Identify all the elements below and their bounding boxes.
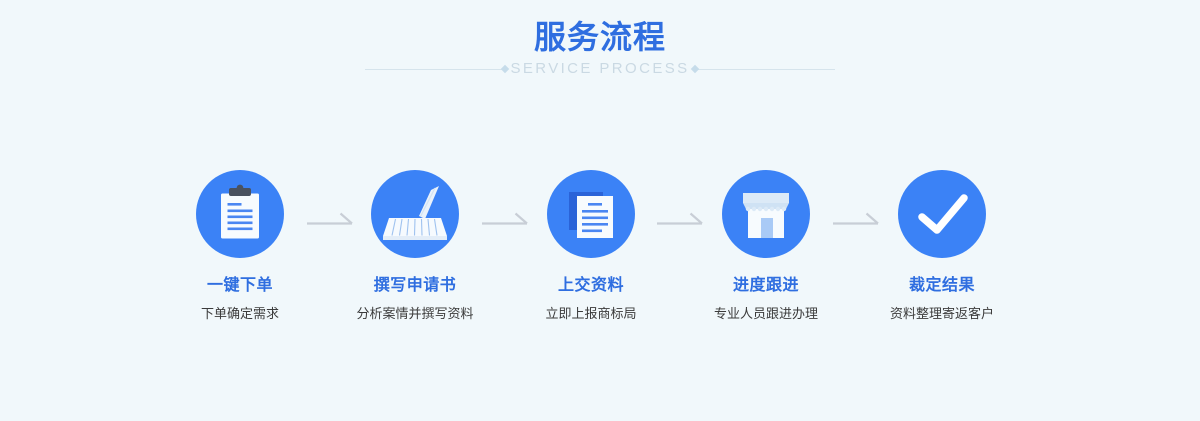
step-5-circle bbox=[898, 170, 986, 258]
page-header: 服务流程 SERVICE PROCESS bbox=[0, 0, 1200, 110]
step-3-desc: 立即上报商标局 bbox=[501, 305, 681, 322]
step-3-circle bbox=[547, 170, 635, 258]
step-1-desc: 下单确定需求 bbox=[150, 305, 330, 322]
checkmark-icon bbox=[898, 170, 986, 258]
step-2-desc: 分析案情并撰写资料 bbox=[325, 305, 505, 322]
service-process-steps: 一键下单 下单确定需求 bbox=[0, 160, 1200, 340]
page-subtitle: SERVICE PROCESS bbox=[510, 56, 689, 82]
divider-dot-right bbox=[691, 65, 699, 73]
divider-line-left bbox=[365, 69, 505, 70]
divider-line-right bbox=[695, 69, 835, 70]
step-1-circle bbox=[196, 170, 284, 258]
step-3-title: 上交资料 bbox=[501, 276, 681, 296]
documents-icon bbox=[547, 170, 635, 258]
divider-dot-left bbox=[501, 65, 509, 73]
page-title: 服务流程 bbox=[534, 18, 666, 56]
broom-icon bbox=[371, 170, 459, 258]
storefront-icon bbox=[722, 170, 810, 258]
step-2-circle bbox=[371, 170, 459, 258]
step-4-title: 进度跟进 bbox=[676, 276, 856, 296]
step-5-desc: 资料整理寄返客户 bbox=[852, 305, 1032, 322]
step-item-2[interactable]: 撰写申请书 分析案情并撰写资料 bbox=[325, 160, 505, 322]
step-2-title: 撰写申请书 bbox=[325, 276, 505, 296]
clipboard-icon bbox=[196, 170, 284, 258]
step-4-desc: 专业人员跟进办理 bbox=[676, 305, 856, 322]
step-item-5[interactable]: 裁定结果 资料整理寄返客户 bbox=[852, 160, 1032, 322]
step-item-1[interactable]: 一键下单 下单确定需求 bbox=[150, 160, 330, 322]
step-1-title: 一键下单 bbox=[150, 276, 330, 296]
step-4-circle bbox=[722, 170, 810, 258]
step-5-title: 裁定结果 bbox=[852, 276, 1032, 296]
step-item-3[interactable]: 上交资料 立即上报商标局 bbox=[501, 160, 681, 322]
step-item-4[interactable]: 进度跟进 专业人员跟进办理 bbox=[676, 160, 856, 322]
